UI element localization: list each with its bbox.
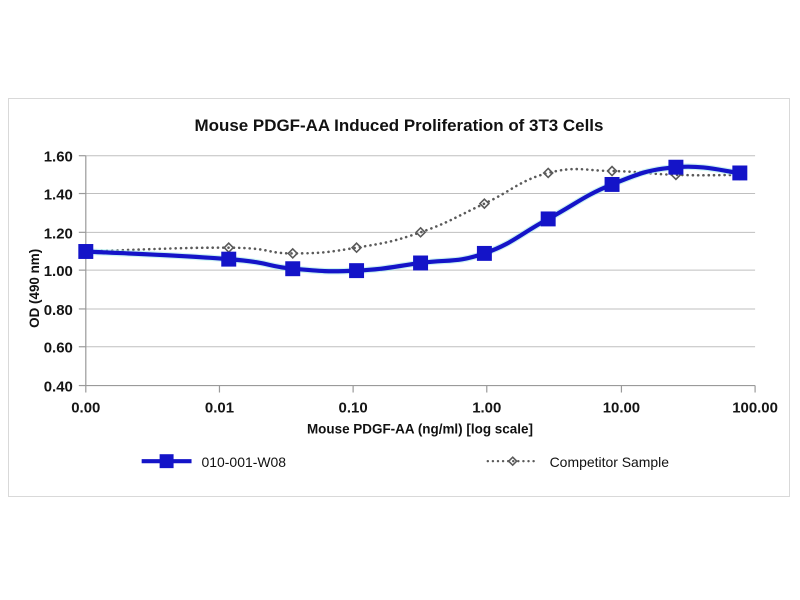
data-point-marker bbox=[605, 177, 619, 191]
data-point-marker bbox=[350, 264, 364, 278]
x-tick-label: 0.10 bbox=[339, 399, 368, 416]
data-point-marker bbox=[79, 245, 93, 259]
y-tick-label: 1.60 bbox=[44, 149, 73, 166]
y-tick-label: 1.40 bbox=[44, 187, 73, 204]
y-tick-label: 0.60 bbox=[44, 340, 73, 357]
legend-swatch-marker-main bbox=[160, 454, 174, 468]
y-tick-label: 1.20 bbox=[44, 225, 73, 242]
y-tick-label: 0.80 bbox=[44, 302, 73, 319]
y-axis-title: OD (490 nm) bbox=[27, 249, 42, 328]
chart-title: Mouse PDGF-AA Induced Proliferation of 3… bbox=[195, 116, 604, 135]
y-tick-label: 0.40 bbox=[44, 379, 73, 396]
chart-background bbox=[9, 99, 789, 496]
data-point-marker bbox=[222, 252, 236, 266]
data-point-marker bbox=[733, 166, 747, 180]
chart-svg: Mouse PDGF-AA Induced Proliferation of 3… bbox=[9, 99, 789, 496]
x-tick-label: 10.00 bbox=[603, 399, 640, 416]
data-point-marker bbox=[414, 256, 428, 270]
x-tick-label: 1.00 bbox=[472, 399, 501, 416]
data-point-marker bbox=[286, 262, 300, 276]
x-axis-title: Mouse PDGF-AA (ng/ml) [log scale] bbox=[307, 421, 533, 436]
x-tick-label: 0.00 bbox=[71, 399, 100, 416]
data-point-marker bbox=[477, 246, 491, 260]
data-point-marker bbox=[541, 212, 555, 226]
legend-label-competitor: Competitor Sample bbox=[550, 454, 670, 470]
legend-label-main: 010-001-W08 bbox=[202, 454, 287, 470]
chart-container: Mouse PDGF-AA Induced Proliferation of 3… bbox=[8, 98, 790, 497]
y-tick-label: 1.00 bbox=[44, 263, 73, 280]
x-tick-label: 0.01 bbox=[205, 399, 234, 416]
x-tick-label: 100.00 bbox=[732, 399, 778, 416]
legend-item-main: 010-001-W08 bbox=[142, 454, 287, 470]
data-point-marker bbox=[669, 160, 683, 174]
